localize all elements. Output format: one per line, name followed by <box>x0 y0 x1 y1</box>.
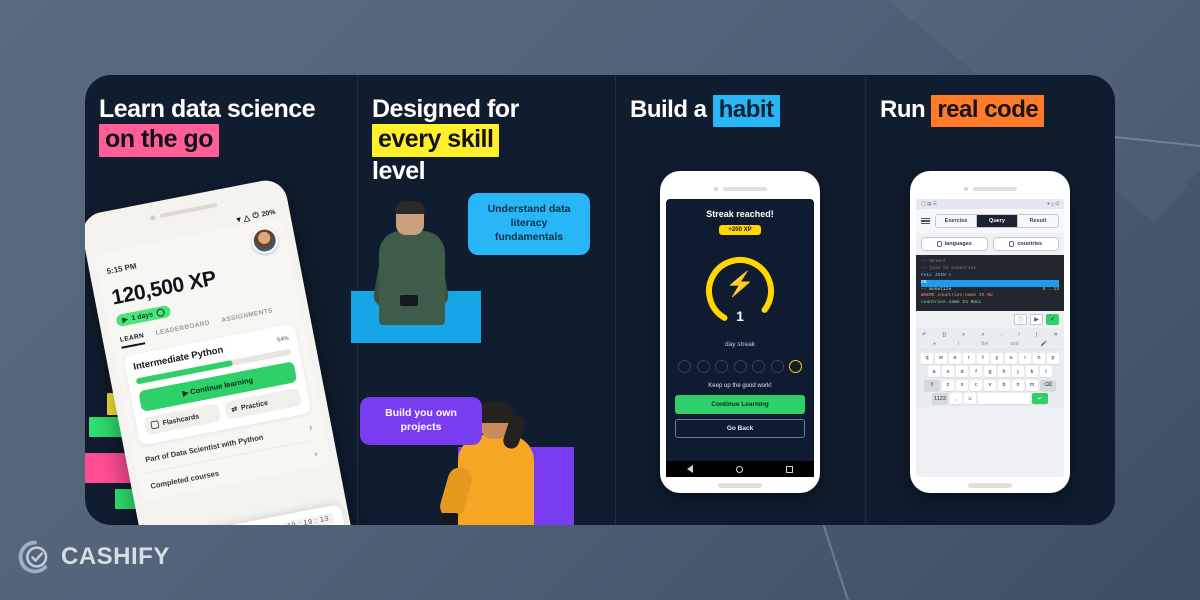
signal-icon: △ <box>243 213 251 223</box>
day-dot <box>697 360 710 373</box>
practice-label: Practice <box>240 399 268 411</box>
submit-check-icon[interactable]: ✓ <box>1046 314 1059 325</box>
cashify-logo[interactable]: CASHIFY <box>18 540 170 574</box>
earpiece-icon <box>973 187 1017 191</box>
code-editor-screen: ◯ ▤ ☰ ▾ △ ⏻ Exercise Query Result langua… <box>916 199 1064 477</box>
backspace-icon[interactable]: ⌫ <box>1040 380 1056 391</box>
tab-assignments[interactable]: ASSIGNMENTS <box>221 307 274 329</box>
key-m[interactable]: m <box>1026 380 1038 391</box>
key-k[interactable]: k <box>1026 366 1038 377</box>
streak-day-dots <box>678 360 802 373</box>
key-z[interactable]: z <box>942 380 954 391</box>
chip-countries[interactable]: countries <box>993 237 1060 251</box>
phone-in-hand-icon <box>400 295 418 306</box>
chevron-right-icon: › <box>308 422 313 432</box>
keyboard-symbol-row[interactable]: ↶ {} < > , ! | ✕ <box>918 330 1062 339</box>
code-line: countries.name IS NULL <box>921 300 1059 307</box>
enter-arrow-icon[interactable]: ↵ <box>1032 393 1048 404</box>
key-n[interactable]: n <box>1012 380 1024 391</box>
day-dot <box>752 360 765 373</box>
callout-data-literacy: Understand data literacy fundamentals <box>468 193 590 255</box>
tab-leaderboard[interactable]: LEADERBOARD <box>155 320 211 342</box>
key-f[interactable]: f <box>970 366 982 377</box>
course-percent: 54% <box>277 336 290 344</box>
day-dot <box>678 360 691 373</box>
segment-exercise[interactable]: Exercise <box>936 215 977 227</box>
key-symbol[interactable]: {} <box>943 332 946 338</box>
key-comma[interactable]: , <box>950 393 962 404</box>
streak-title: Streak reached! <box>675 209 805 219</box>
panel-learn-on-the-go: Learn data science on the go ▾ △ ⏻ 20% 5… <box>85 75 357 525</box>
android-nav-bar[interactable] <box>666 461 814 477</box>
panel-4-heading-line1: Run <box>880 96 925 123</box>
key-u[interactable]: u <box>1005 353 1017 364</box>
shift-icon[interactable]: ⇧ <box>924 380 940 391</box>
key-j[interactable]: j <box>1012 366 1024 377</box>
editor-actions: ⓘ ▶ ✓ <box>916 311 1064 328</box>
phone-notch <box>666 184 814 193</box>
panel-3-heading-line1: Build a <box>630 96 707 123</box>
key-symbol[interactable]: , <box>1001 332 1002 338</box>
continue-learning-label: Continue learning <box>189 375 253 396</box>
key-h[interactable]: h <box>998 366 1010 377</box>
segment-query[interactable]: Query <box>977 215 1018 227</box>
clock-label: 5:15 PM <box>106 261 137 276</box>
key-d[interactable]: d <box>956 366 968 377</box>
streak-badge[interactable]: ▶ 1 days <box>115 305 171 327</box>
camera-dot-icon <box>964 187 968 191</box>
code-line: -- Select <box>921 259 1059 266</box>
emoji-icon[interactable]: ☺ <box>964 393 976 404</box>
suggestion-item[interactable]: and <box>1010 341 1018 347</box>
avatar[interactable] <box>249 225 279 255</box>
suggestion-item[interactable]: I <box>958 341 959 347</box>
key-numeric-toggle[interactable]: 1123 <box>932 393 948 404</box>
key-y[interactable]: y <box>991 353 1003 364</box>
key-b[interactable]: b <box>998 380 1010 391</box>
panel-run-real-code: Run real code ◯ ▤ ☰ ▾ △ ⏻ Exercise Query <box>865 75 1114 525</box>
key-g[interactable]: g <box>984 366 996 377</box>
panel-build-a-habit: Build a habit Streak reached! +200 XP ⚡ … <box>615 75 865 525</box>
key-symbol[interactable]: > <box>981 332 984 338</box>
phone-notch <box>916 184 1064 193</box>
hint-icon[interactable]: ⓘ <box>1014 314 1027 325</box>
database-icon <box>1009 241 1014 247</box>
key-l[interactable]: l <box>1040 366 1052 377</box>
phone-mockup-code: ◯ ▤ ☰ ▾ △ ⏻ Exercise Query Result langua… <box>910 171 1070 493</box>
tab-learn[interactable]: LEARN <box>119 332 145 348</box>
photo-person-standing <box>366 203 458 325</box>
nav-recents-icon[interactable] <box>786 466 793 473</box>
cashify-circle-check-icon <box>18 540 52 574</box>
panel-1-heading-line1: Learn data science <box>99 95 315 123</box>
panel-1-heading-highlight: on the go <box>99 124 219 157</box>
nav-home-icon[interactable] <box>736 466 743 473</box>
status-left-icons: ◯ ▤ ☰ <box>921 201 937 207</box>
key-w[interactable]: w <box>935 353 947 364</box>
code-area[interactable]: -- Select -- join to countries FULL JOIN… <box>916 255 1064 311</box>
camera-dot-icon <box>150 214 156 220</box>
panel-2-heading-highlight: every skill <box>372 124 499 157</box>
callout-build-projects: Build you own projects <box>360 397 482 445</box>
go-back-button[interactable]: Go Back <box>675 419 805 438</box>
code-line: -- join to countries <box>921 266 1059 273</box>
streak-xp-badge: +200 XP <box>719 225 761 235</box>
lightning-bolt-icon: ⚡ <box>725 273 755 297</box>
feature-card: Learn data science on the go ▾ △ ⏻ 20% 5… <box>85 75 1115 525</box>
key-i[interactable]: i <box>1019 353 1031 364</box>
suggestion-item[interactable]: the <box>981 341 988 347</box>
key-t[interactable]: t <box>977 353 989 364</box>
flashcards-label: Flashcards <box>162 413 200 427</box>
list-item-completed-label: Completed courses <box>150 468 220 490</box>
chip-countries-label: countries <box>1017 241 1042 247</box>
key-symbol[interactable]: ! <box>1018 332 1019 338</box>
keyboard-row-4[interactable]: 1123 , ☺ ↵ <box>918 393 1062 404</box>
key-s[interactable]: s <box>942 366 954 377</box>
panel-1-heading: Learn data science on the go <box>99 95 347 157</box>
flashcards-icon <box>150 420 159 429</box>
segment-result[interactable]: Result <box>1018 215 1058 227</box>
phone-mockup-streak: Streak reached! +200 XP ⚡ 1 day streak <box>660 171 820 493</box>
day-dot-active <box>789 360 802 373</box>
panel-3-heading-highlight: habit <box>713 95 780 127</box>
streak-play-icon: ▶ <box>122 315 129 324</box>
menu-icon[interactable] <box>921 218 930 225</box>
wifi-icon: ▾ <box>236 214 242 224</box>
streak-label: day streak <box>675 341 805 348</box>
panel-2-heading-line1: Designed for <box>372 95 519 123</box>
key-c[interactable]: c <box>970 380 982 391</box>
home-indicator <box>968 483 1012 488</box>
challenge-timer: 10 : 19 : 13 <box>282 512 335 525</box>
run-icon[interactable]: ▶ <box>1030 314 1043 325</box>
day-dot <box>734 360 747 373</box>
day-dot <box>715 360 728 373</box>
panel-3-heading: Build a habit <box>630 95 855 127</box>
key-o[interactable]: o <box>1033 353 1045 364</box>
nav-back-icon[interactable] <box>687 465 693 473</box>
key-x[interactable]: x <box>956 380 968 391</box>
practice-icon: ⇄ <box>231 405 238 414</box>
mic-icon[interactable]: 🎤 <box>1041 341 1047 347</box>
editor-toolbar: Exercise Query Result <box>916 209 1064 233</box>
status-right-icons: ▾ △ ⏻ <box>1047 201 1059 207</box>
on-screen-keyboard[interactable]: ↶ {} < > , ! | ✕ ● I the and 🎤 <box>916 328 1064 407</box>
panel-2-heading-line3: level <box>372 157 425 185</box>
streak-number: 1 <box>736 308 744 324</box>
key-q[interactable]: q <box>921 353 933 364</box>
gear-icon <box>156 308 165 317</box>
keyboard-row-3[interactable]: ⇧ z x c v b n m ⌫ <box>918 380 1062 391</box>
keyboard-row-2[interactable]: a s d f g h j k l <box>918 366 1062 377</box>
undo-icon[interactable]: ↶ <box>922 332 926 338</box>
key-p[interactable]: p <box>1047 353 1059 364</box>
panel-4-heading: Run real code <box>880 95 1104 127</box>
key-symbol[interactable]: < <box>962 332 965 338</box>
chip-languages[interactable]: languages <box>921 237 988 251</box>
key-e[interactable]: e <box>949 353 961 364</box>
day-dot <box>771 360 784 373</box>
chevron-right-icon: › <box>313 448 318 458</box>
key-v[interactable]: v <box>984 380 996 391</box>
keyboard-suggestions[interactable]: ● I the and 🎤 <box>918 339 1062 350</box>
streak-days-label: 1 days <box>131 311 154 322</box>
encouragement-text: Keep up the good work! <box>675 383 805 389</box>
phone-in-hand-icon <box>442 513 458 523</box>
code-line-selected: ON <box>921 280 1059 287</box>
earpiece-icon <box>723 187 767 191</box>
key-symbol[interactable]: | <box>1036 332 1037 338</box>
suggestion-icon[interactable]: ● <box>933 341 936 347</box>
keyboard-row-1[interactable]: q w e r t y u i o p <box>918 353 1062 364</box>
panel-every-skill-level: Designed for every skill level Understan… <box>357 75 615 525</box>
table-chips: languages countries <box>916 233 1064 255</box>
key-r[interactable]: r <box>963 353 975 364</box>
streak-screen: Streak reached! +200 XP ⚡ 1 day streak <box>666 199 814 477</box>
chip-languages-label: languages <box>945 241 972 247</box>
database-icon <box>937 241 942 247</box>
code-line: FULL JOIN c <box>921 273 1059 280</box>
editor-segmented-control[interactable]: Exercise Query Result <box>935 214 1059 228</box>
battery-icon: ⏻ <box>252 210 260 221</box>
phone-status-bar: ◯ ▤ ☰ ▾ △ ⏻ <box>916 199 1064 209</box>
code-caret-pos: 5 : 13 <box>1042 287 1059 294</box>
home-indicator <box>718 483 762 488</box>
key-a[interactable]: a <box>928 366 940 377</box>
close-icon[interactable]: ✕ <box>1054 332 1058 338</box>
streak-ring: ⚡ 1 <box>702 253 778 329</box>
battery-percent: 20% <box>261 208 276 218</box>
cashify-wordmark: CASHIFY <box>61 543 170 571</box>
camera-dot-icon <box>714 187 718 191</box>
panel-2-heading: Designed for every skill level <box>372 95 605 186</box>
continue-learning-button[interactable]: Continue Learning <box>675 395 805 414</box>
learn-screen: 5:15 PM 120,500 XP ▶ 1 days LEARN LEADER… <box>94 218 330 501</box>
panel-4-heading-highlight: real code <box>931 95 1044 127</box>
key-space[interactable] <box>978 393 1030 404</box>
todays-challenge-card[interactable]: Today's challenge 10 : 19 : 13 → Start n… <box>156 504 348 525</box>
